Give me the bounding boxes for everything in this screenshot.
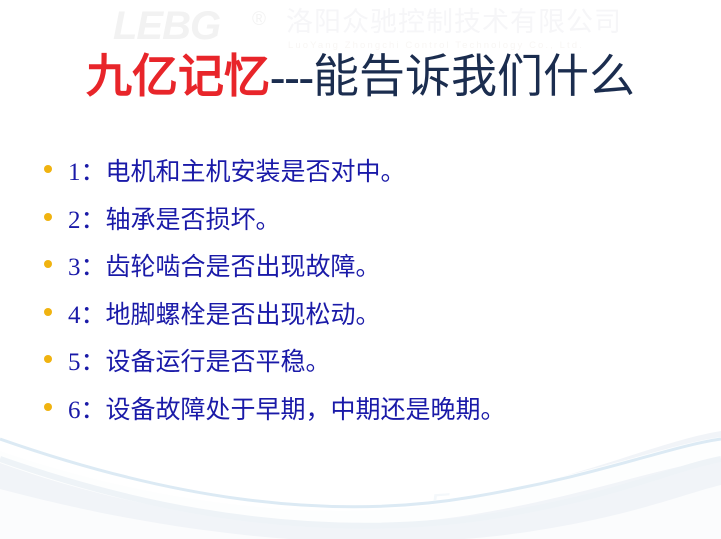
list-item-text: 4：地脚螺栓是否出现松动。 [58, 295, 381, 337]
slide-title-red-part: 九亿记忆 [86, 51, 270, 102]
wave-shape-white [0, 435, 721, 525]
list-item-number: 5： [68, 349, 106, 376]
list-item-body: 设备故障处于早期，中期还是晚期。 [106, 397, 506, 424]
list-item-body: 电机和主机安装是否对中。 [106, 159, 406, 186]
bullet-dot-icon [44, 152, 58, 173]
list-item-number: 6： [68, 397, 106, 424]
list-item: 6：设备故障处于早期，中期还是晚期。 [44, 390, 704, 438]
list-item-body: 地脚螺栓是否出现松动。 [106, 302, 381, 329]
bullet-dot-icon [44, 200, 58, 221]
wave-line-blue [0, 439, 721, 507]
list-item: 2：轴承是否损坏。 [44, 200, 704, 248]
list-item-body: 轴承是否损坏。 [106, 207, 281, 234]
wave-shape-back [0, 431, 721, 539]
list-item: 5：设备运行是否平稳。 [44, 342, 704, 390]
bullet-dot-icon [44, 342, 58, 363]
slide-title: 九亿记忆---能告诉我们什么 [0, 48, 721, 106]
list-item-text: 3：齿轮啮合是否出现故障。 [58, 247, 381, 289]
list-item-body: 设备运行是否平稳。 [106, 349, 331, 376]
list-item-number: 3： [68, 254, 106, 281]
list-item-text: 6：设备故障处于早期，中期还是晚期。 [58, 390, 506, 432]
list-item-body: 齿轮啮合是否出现故障。 [106, 254, 381, 281]
bottom-wave-decoration [0, 429, 721, 539]
list-item-text: 2：轴承是否损坏。 [58, 200, 281, 242]
bullet-dot-icon [44, 247, 58, 268]
list-item-number: 4： [68, 302, 106, 329]
registered-trademark-icon: ® [252, 10, 266, 29]
slide-canvas: LEBG ® 洛阳众驰控制技术有限公司 LuoYang Zhongchi Con… [0, 0, 721, 539]
bullet-dot-icon [44, 295, 58, 316]
company-name-chinese: 洛阳众驰控制技术有限公司 [286, 8, 622, 38]
list-item: 1：电机和主机安装是否对中。 [44, 152, 704, 200]
list-item-number: 1： [68, 159, 106, 186]
slide-title-navy-part: 能告诉我们什么 [313, 51, 635, 102]
decorative-faint-text: EveryBody Go [429, 475, 636, 523]
bullet-list: 1：电机和主机安装是否对中。 2：轴承是否损坏。 3：齿轮啮合是否出现故障。 4… [44, 152, 704, 437]
wave-line-gray [0, 459, 721, 526]
list-item: 3：齿轮啮合是否出现故障。 [44, 247, 704, 295]
bullet-dot-icon [44, 390, 58, 411]
list-item: 4：地脚螺栓是否出现松动。 [44, 295, 704, 343]
slide-title-dashes: --- [270, 51, 313, 102]
lebg-logo-text: LEBG [113, 6, 220, 46]
list-item-number: 2： [68, 207, 106, 234]
list-item-text: 1：电机和主机安装是否对中。 [58, 152, 406, 194]
list-item-text: 5：设备运行是否平稳。 [58, 342, 331, 384]
wave-shape-front [0, 485, 721, 539]
